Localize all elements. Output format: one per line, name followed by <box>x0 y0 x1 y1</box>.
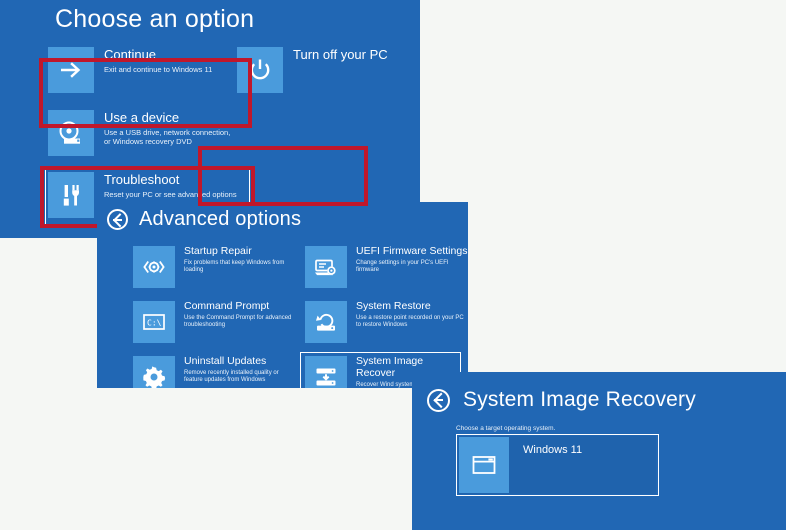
option-continue[interactable]: Continue Exit and continue to Windows 11 <box>48 47 212 93</box>
option-text: Startup Repair Fix problems that keep Wi… <box>184 246 302 274</box>
gear-icon <box>133 356 175 388</box>
option-title: UEFI Firmware Settings <box>356 246 467 258</box>
uefi-chip-icon <box>305 246 347 288</box>
option-title: Continue <box>104 48 212 63</box>
option-description: Reset your PC or see advanced options <box>104 190 237 199</box>
advanced-options-screen: Advanced options Startup Repair Fix prob… <box>97 202 468 388</box>
command-prompt-icon: C:\ <box>133 301 175 343</box>
window-icon <box>459 437 509 493</box>
system-restore-icon <box>305 301 347 343</box>
option-title: Command Prompt <box>184 301 296 313</box>
option-title: Uninstall Updates <box>184 356 296 368</box>
system-image-recovery-screen: System Image Recovery Choose a target op… <box>412 372 786 530</box>
option-use-a-device[interactable]: Use a device Use a USB drive, network co… <box>48 110 234 156</box>
option-text: UEFI Firmware Settings Change settings i… <box>356 246 467 274</box>
option-uefi-firmware-settings[interactable]: UEFI Firmware Settings Change settings i… <box>305 246 467 288</box>
option-turn-off-your-pc[interactable]: Turn off your PC <box>237 47 388 93</box>
svg-text:C:\: C:\ <box>147 318 162 327</box>
option-title: Troubleshoot <box>104 173 237 188</box>
disc-drive-icon <box>48 110 94 156</box>
option-description: Use the Command Prompt for advanced trou… <box>184 315 296 330</box>
os-entry-label: Windows 11 <box>523 444 582 456</box>
option-uninstall-updates[interactable]: Uninstall Updates Remove recently instal… <box>133 356 296 388</box>
page-title: Choose an option <box>55 5 254 34</box>
subtitle: Choose a target operating system. <box>456 425 555 432</box>
option-text: Use a device Use a USB drive, network co… <box>104 110 234 146</box>
option-description: Use a restore point recorded on your PC … <box>356 315 468 330</box>
option-description: Fix problems that keep Windows from load… <box>184 260 302 275</box>
back-arrow-icon[interactable] <box>107 209 128 230</box>
power-icon <box>237 47 283 93</box>
page-title: System Image Recovery <box>427 388 696 412</box>
system-image-icon <box>305 356 347 388</box>
option-description: Change settings in your PC's UEFI firmwa… <box>356 260 464 275</box>
option-description: Use a USB drive, network connection, or … <box>104 128 234 146</box>
option-title: Use a device <box>104 111 234 126</box>
option-description: Exit and continue to Windows 11 <box>104 65 212 74</box>
option-text: Troubleshoot Reset your PC or see advanc… <box>104 172 237 199</box>
option-command-prompt[interactable]: C:\ Command Prompt Use the Command Promp… <box>133 301 296 343</box>
option-text: Continue Exit and continue to Windows 11 <box>104 47 212 74</box>
page-title-label: System Image Recovery <box>463 388 696 412</box>
option-startup-repair[interactable]: Startup Repair Fix problems that keep Wi… <box>133 246 302 288</box>
arrow-right-icon <box>48 47 94 93</box>
option-text: Uninstall Updates Remove recently instal… <box>184 356 296 384</box>
startup-repair-icon <box>133 246 175 288</box>
back-arrow-icon[interactable] <box>427 389 450 412</box>
option-system-restore[interactable]: System Restore Use a restore point recor… <box>305 301 468 343</box>
option-text: System Restore Use a restore point recor… <box>356 301 468 329</box>
os-entry-windows-11[interactable]: Windows 11 <box>458 436 656 494</box>
option-title: Turn off your PC <box>293 48 388 63</box>
option-text: Turn off your PC <box>293 47 388 63</box>
tools-icon <box>48 172 94 218</box>
page-title: Advanced options <box>107 208 301 231</box>
option-description: Remove recently installed quality or fea… <box>184 370 296 385</box>
option-title: System Restore <box>356 301 468 313</box>
option-title: Startup Repair <box>184 246 302 258</box>
screenshot-stage: Choose an option Continue Exit and conti… <box>0 0 786 530</box>
option-text: Command Prompt Use the Command Prompt fo… <box>184 301 296 329</box>
option-system-image-recover[interactable]: System Image Recover Recover Wind system… <box>305 356 428 388</box>
page-title-label: Advanced options <box>139 208 301 231</box>
